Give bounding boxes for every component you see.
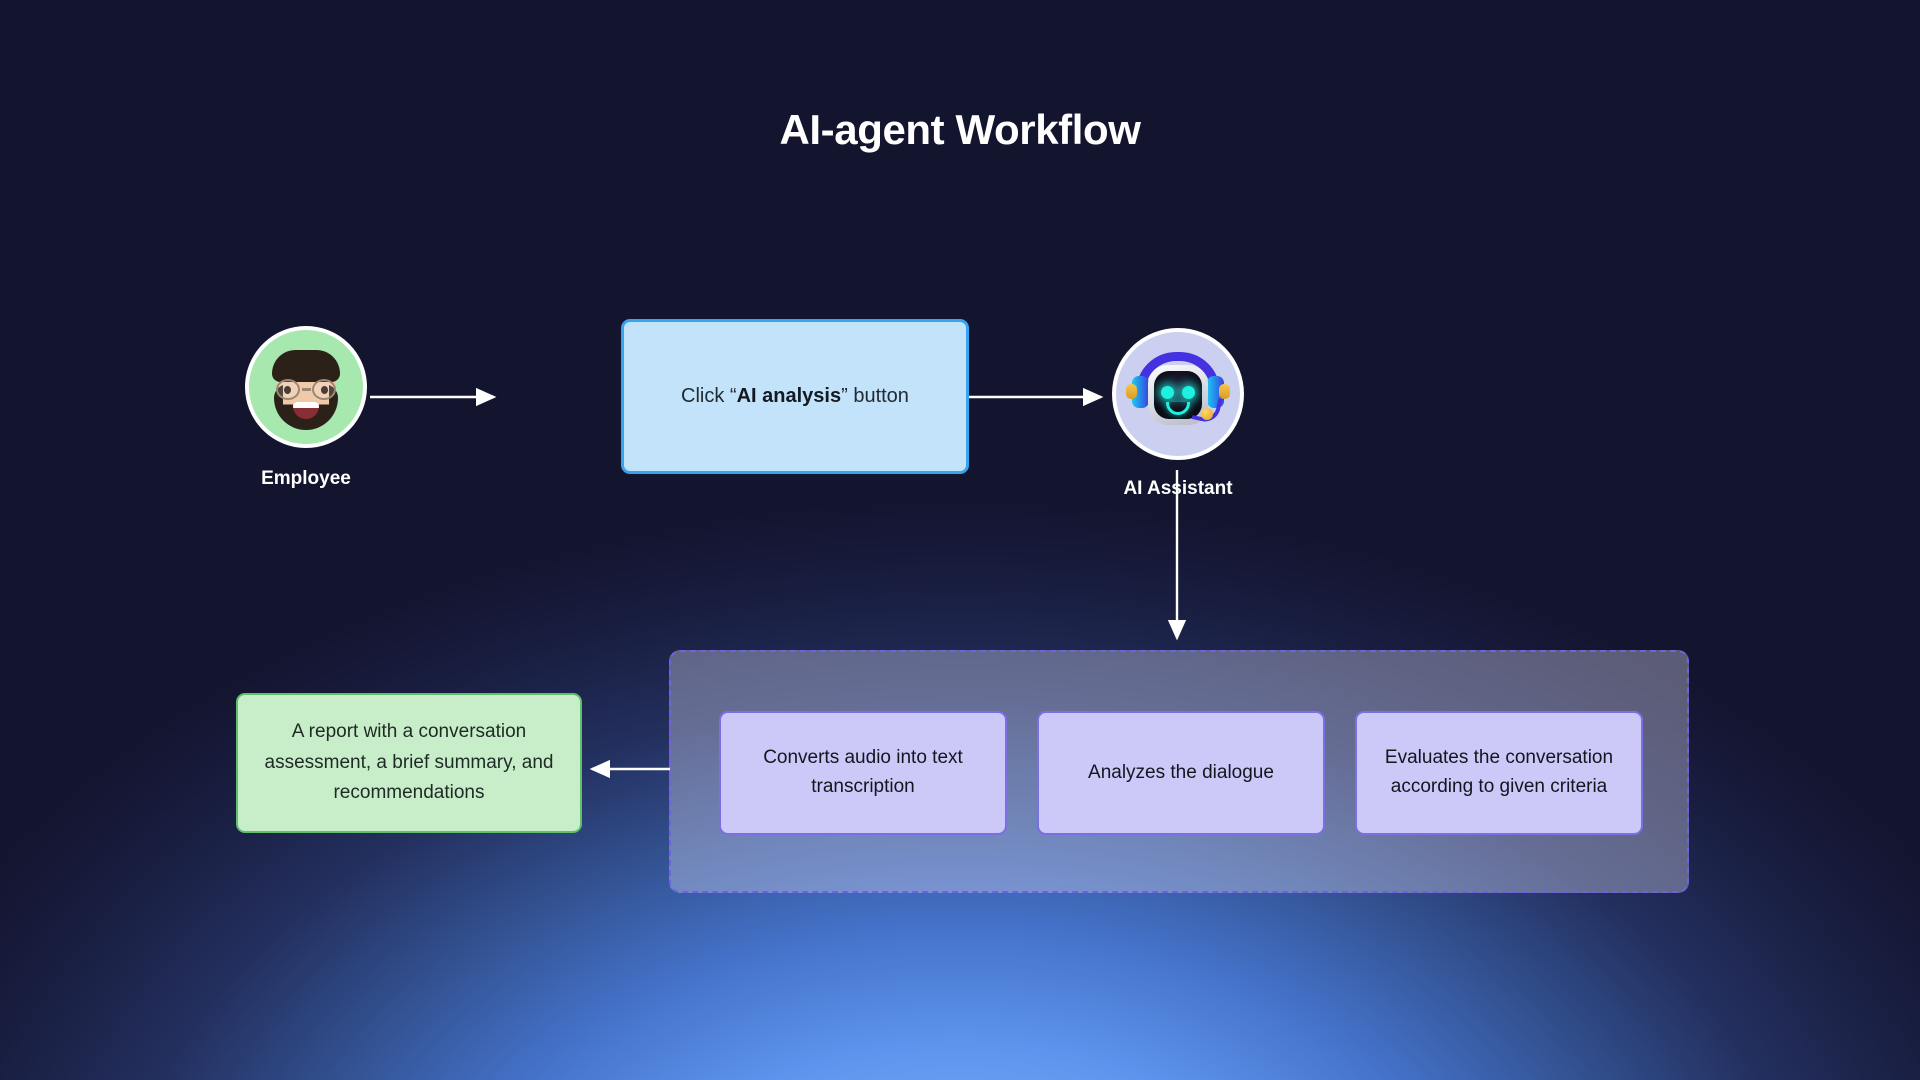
ai-robot-icon — [1112, 328, 1244, 460]
diagram-canvas: AI-agent Workflow Employee — [0, 0, 1920, 1080]
action-box-label: Click “AI analysis” button — [681, 385, 909, 408]
step-box-analyzes-dialogue[interactable]: Analyzes the dialogue — [1037, 711, 1325, 835]
node-employee: Employee — [245, 326, 373, 490]
employee-avatar-icon — [245, 326, 367, 448]
robot-head — [1126, 352, 1230, 436]
report-label: A report with a conversation assessment,… — [256, 717, 562, 809]
step-box-evaluates-conversation[interactable]: Evaluates the conversation according to … — [1355, 711, 1643, 835]
page-title: AI-agent Workflow — [0, 106, 1920, 154]
arrow-agent-container-to-report — [582, 752, 682, 786]
step-label: Converts audio into text transcription — [735, 744, 991, 802]
report-output-box[interactable]: A report with a conversation assessment,… — [236, 693, 582, 833]
employee-label: Employee — [245, 468, 367, 490]
step-label: Analyzes the dialogue — [1088, 759, 1274, 788]
arrow-assistant-to-agent-container — [1160, 470, 1194, 650]
step-box-converts-audio[interactable]: Converts audio into text transcription — [719, 711, 1007, 835]
memoji-face — [267, 346, 345, 432]
step-label: Evaluates the conversation according to … — [1371, 744, 1627, 802]
action-box-click-ai-analysis[interactable]: Click “AI analysis” button — [621, 319, 969, 474]
arrow-employee-to-action — [370, 380, 506, 414]
agent-processing-container: Converts audio into text transcription A… — [669, 650, 1689, 893]
arrow-action-to-assistant — [969, 380, 1119, 414]
